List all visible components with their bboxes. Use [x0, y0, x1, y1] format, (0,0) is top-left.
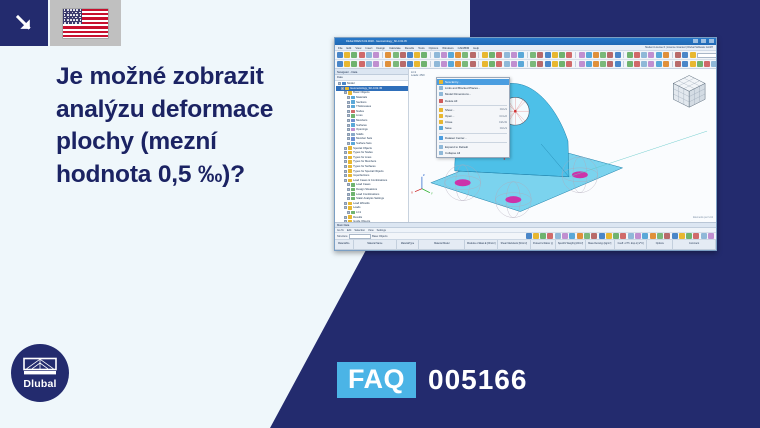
- table-column-header-line: G [N/mm²]: [516, 243, 527, 246]
- toolbar-combobox[interactable]: [697, 53, 716, 58]
- toolbar-button[interactable]: [552, 61, 558, 67]
- navigator-tree-item-label: Load Cases & Combinations: [353, 179, 387, 182]
- table-cell[interactable]: 2500.00: [585, 250, 614, 251]
- table-filter-select[interactable]: [349, 234, 371, 239]
- faq-block: FAQ 005166: [337, 362, 527, 398]
- toolbar-button[interactable]: [407, 61, 413, 67]
- table-toolbar-button[interactable]: [679, 233, 685, 239]
- toolbar-button[interactable]: [675, 52, 681, 58]
- toolbar-button[interactable]: [593, 52, 599, 58]
- table-toolbar-button[interactable]: [708, 233, 714, 239]
- table-menu-view[interactable]: View: [368, 229, 374, 232]
- toolbar-button[interactable]: [448, 52, 454, 58]
- toolbar-button[interactable]: [455, 61, 461, 67]
- navigator-tree-item-label: Guide Objects: [353, 220, 370, 222]
- navigator-tree-item-label: Static Analysis Settings: [356, 197, 384, 200]
- tree-node-icon: [348, 169, 351, 172]
- maximize-icon[interactable]: [701, 39, 706, 43]
- tree-expander-icon[interactable]: +: [347, 197, 350, 200]
- tree-expander-icon[interactable]: +: [347, 188, 350, 191]
- context-menu-item-icon: [439, 151, 443, 155]
- toolbar-separator: [575, 61, 576, 67]
- toolbar-button[interactable]: [434, 61, 440, 67]
- tree-node-icon: [348, 202, 351, 205]
- navigator-tree-item-label: Solids: [356, 133, 363, 136]
- tree-node-icon: [348, 151, 351, 154]
- toolbar-button[interactable]: [414, 52, 420, 58]
- tree-expander-icon[interactable]: +: [344, 170, 347, 173]
- toolbar-button[interactable]: [615, 52, 621, 58]
- table-column-header-line: Material Name: [367, 243, 382, 246]
- toolbar-button[interactable]: [537, 61, 543, 67]
- toolbar-button[interactable]: [600, 52, 606, 58]
- license-info: Student License 6 | License Granted | Dl…: [645, 46, 713, 49]
- navigator-tab-data[interactable]: Data: [337, 76, 343, 79]
- toolbar-button[interactable]: [656, 61, 662, 67]
- toolbar-button[interactable]: [530, 61, 536, 67]
- toolbar-button[interactable]: [711, 61, 716, 67]
- menu-windows[interactable]: Windows: [442, 46, 453, 50]
- table-column-header[interactable]: MaterialNo.: [335, 240, 354, 249]
- table-cell[interactable]: 1.0000E-05: [615, 250, 648, 251]
- table-toolbar-button[interactable]: [693, 233, 699, 239]
- toolbar-button[interactable]: [337, 61, 343, 67]
- tree-expander-icon[interactable]: +: [347, 137, 350, 140]
- table-column-header[interactable]: Mass Densityρ [kg/m³]: [586, 240, 615, 249]
- toolbar-button[interactable]: [351, 52, 357, 58]
- toolbar-button[interactable]: [615, 61, 621, 67]
- tree-node-icon: [351, 192, 354, 195]
- minimize-icon[interactable]: [693, 39, 698, 43]
- table-toolbar-button[interactable]: [664, 233, 670, 239]
- toolbar-button[interactable]: [579, 61, 585, 67]
- menu-calculate[interactable]: Calculate: [389, 46, 401, 50]
- tree-expander-icon[interactable]: +: [344, 151, 347, 154]
- table-column-header[interactable]: Specific Weightγ [kN/m³]: [556, 240, 585, 249]
- us-flag-icon: [63, 9, 108, 38]
- tree-expander-icon[interactable]: +: [344, 147, 347, 150]
- context-menu-item[interactable]: Collapse All: [437, 150, 509, 156]
- toolbar-button[interactable]: [537, 52, 543, 58]
- dlubal-logo: Dlubal: [11, 344, 69, 402]
- tree-expander-icon[interactable]: +: [344, 179, 347, 182]
- tree-expander-icon[interactable]: +: [347, 211, 350, 214]
- arrow-down-right-icon: [12, 11, 36, 35]
- toolbar-button[interactable]: [586, 52, 592, 58]
- table-column-header[interactable]: Coeff. of Th. Exp.α [1/°C]: [615, 240, 648, 249]
- toolbar-button[interactable]: [482, 61, 488, 67]
- toolbar-button[interactable]: [393, 52, 399, 58]
- tree-node-icon: [351, 128, 354, 131]
- table-toolbar-button[interactable]: [613, 233, 619, 239]
- toolbar-button[interactable]: [593, 61, 599, 67]
- toolbar-primary[interactable]: [335, 51, 716, 60]
- table-row[interactable]: 1C25/30ConcreteIsotropic | Linear Elasti…: [335, 250, 716, 251]
- menu-tools[interactable]: Tools: [418, 46, 425, 50]
- table-column-header-line: ρ [kg/m³]: [602, 243, 611, 246]
- context-menu-item-label: Delete All: [445, 99, 505, 103]
- toolbar-button[interactable]: [482, 52, 488, 58]
- table-column-header-line: ν [-]: [549, 243, 553, 246]
- tree-expander-icon[interactable]: +: [344, 220, 347, 222]
- navigator-tree-item[interactable]: +Guide Objects: [336, 219, 408, 222]
- toolbar-button[interactable]: [627, 61, 633, 67]
- table-cell[interactable]: Concrete: [397, 250, 419, 251]
- toolbar-button[interactable]: [627, 52, 633, 58]
- toolbar-separator: [672, 52, 673, 58]
- toolbar-button[interactable]: [518, 61, 524, 67]
- tree-expander-icon[interactable]: +: [344, 202, 347, 205]
- menu-file[interactable]: File: [338, 46, 343, 50]
- toolbar-button[interactable]: [511, 61, 517, 67]
- toolbar-button[interactable]: [552, 52, 558, 58]
- tree-expander-icon[interactable]: +: [338, 82, 341, 85]
- table-column-header-line: Modulus of Elast.: [467, 243, 485, 246]
- toolbar-button[interactable]: [566, 52, 572, 58]
- navigator-tree-item-label: Lines: [356, 114, 362, 117]
- context-menu-item-shortcut: Ctrl+O: [499, 115, 507, 118]
- navigator-tree-item-label: Types for Special Objects: [353, 170, 383, 173]
- toolbar-button[interactable]: [504, 61, 510, 67]
- context-menu-item-icon: [439, 108, 443, 112]
- table-cell[interactable]: 31000.0: [466, 250, 499, 251]
- dlubal-logo-text: Dlubal: [23, 378, 56, 390]
- toolbar-button[interactable]: [607, 61, 613, 67]
- toolbar-button[interactable]: [462, 52, 468, 58]
- toolbar-button[interactable]: [641, 61, 647, 67]
- tree-node-icon: [351, 188, 354, 191]
- toolbar-button[interactable]: [559, 52, 565, 58]
- context-menu-item-shortcut: Ctrl+W: [499, 121, 507, 124]
- toolbar-separator: [430, 52, 431, 58]
- tree-expander-icon[interactable]: +: [341, 87, 344, 90]
- table-toolbar-button[interactable]: [657, 233, 663, 239]
- tree-node-icon: [351, 137, 354, 140]
- toolbar-button[interactable]: [441, 52, 447, 58]
- table-toolbar-button[interactable]: [584, 233, 590, 239]
- toolbar-button[interactable]: [441, 61, 447, 67]
- toolbar-button[interactable]: [682, 61, 688, 67]
- toolbar-button[interactable]: [545, 61, 551, 67]
- table-column-header[interactable]: Comment: [673, 240, 716, 249]
- tree-expander-icon[interactable]: +: [344, 91, 347, 94]
- toolbar-button[interactable]: [470, 52, 476, 58]
- table-column-header-line: Coeff. of Th. Exp.: [618, 243, 636, 246]
- toolbar-button[interactable]: [385, 61, 391, 67]
- table-toolbar-button[interactable]: [569, 233, 575, 239]
- navigator-tree-item-label: Materials: [356, 96, 367, 99]
- context-menu[interactable]: New Entry...Links and Blocked Places...M…: [436, 77, 510, 158]
- table-toolbar-button[interactable]: [620, 233, 626, 239]
- navigator-tree-item-label: Openings: [356, 128, 368, 131]
- navigator-tree-item-label: Imperfections: [353, 174, 369, 177]
- toolbar-button[interactable]: [545, 52, 551, 58]
- tree-node-icon: [351, 114, 354, 117]
- navigator-panel[interactable]: Navigator - Data Data +Model+Geometrolog…: [335, 69, 409, 222]
- context-menu-item-label: Open...: [445, 114, 497, 118]
- tree-expander-icon[interactable]: +: [347, 96, 350, 99]
- navigator-tree-item-label: Members: [356, 119, 367, 122]
- menu-cadbim[interactable]: CAD/BIM: [458, 46, 470, 50]
- toolbar-button[interactable]: [337, 52, 343, 58]
- table-body[interactable]: 1C25/30ConcreteIsotropic | Linear Elasti…: [335, 250, 716, 251]
- toolbar-button[interactable]: [559, 61, 565, 67]
- table-grid[interactable]: MaterialNo.Material NameMaterialTypeMate…: [335, 240, 716, 251]
- menu-edit[interactable]: Edit: [347, 46, 352, 50]
- toolbar-button[interactable]: [607, 52, 613, 58]
- toolbar-button[interactable]: [704, 61, 710, 67]
- navigator-tree-item-label: Loads: [353, 206, 360, 209]
- toolbar-button[interactable]: [400, 61, 406, 67]
- navigator-tree-item-label: Sections: [356, 101, 366, 104]
- tree-node-icon: [348, 220, 351, 222]
- context-menu-item-icon: [439, 99, 443, 103]
- table-toolbar-button[interactable]: [628, 233, 634, 239]
- toolbar-button[interactable]: [373, 52, 379, 58]
- navigator-tree-item-label: Load Wizards: [353, 202, 369, 205]
- table-cell[interactable]: [673, 250, 716, 251]
- window-buttons[interactable]: [693, 39, 714, 43]
- tree-node-icon: [351, 105, 354, 108]
- table-menu-selection[interactable]: Selection: [354, 229, 365, 232]
- toolbar-button[interactable]: [648, 52, 654, 58]
- toolbar-button[interactable]: [489, 52, 495, 58]
- table-column-header[interactable]: Material Model: [419, 240, 465, 249]
- tree-node-icon: [348, 174, 351, 177]
- toolbar-button[interactable]: [496, 52, 502, 58]
- toolbar-button[interactable]: [641, 52, 647, 58]
- context-menu-item[interactable]: Delete All: [437, 98, 509, 104]
- toolbar-button[interactable]: [634, 61, 640, 67]
- tree-expander-icon[interactable]: +: [347, 114, 350, 117]
- table-column-header[interactable]: Modulus of Elast.E [N/mm²]: [465, 240, 498, 249]
- table-toolbar-icons[interactable]: [526, 233, 714, 239]
- tree-node-icon: [351, 96, 354, 99]
- toolbar-separator: [527, 61, 528, 67]
- navigator-tree-item-label: Load Combinations: [356, 193, 379, 196]
- table-cell[interactable]: 1: [335, 250, 354, 251]
- table-column-header[interactable]: Shear ModulusG [N/mm²]: [498, 240, 531, 249]
- menu-insert[interactable]: Insert: [365, 46, 372, 50]
- toolbar-button[interactable]: [648, 61, 654, 67]
- toolbar-button[interactable]: [366, 61, 372, 67]
- toolbar-button[interactable]: [675, 61, 681, 67]
- navigator-tree-item-label: LC1: [356, 211, 361, 214]
- navigator-tree-item-label: Types for Lines: [353, 156, 371, 159]
- context-menu-item-icon: [439, 120, 443, 124]
- context-menu-item-label: Expand to Default: [445, 145, 505, 149]
- model-viewport[interactable]: LC1 Loads: 25/0 Elements per Unit: [409, 69, 716, 222]
- table-toolbar-button[interactable]: [555, 233, 561, 239]
- table-column-header-line: E [N/mm²]: [485, 243, 495, 246]
- toolbar-button[interactable]: [656, 52, 662, 58]
- toolbar-button[interactable]: [434, 52, 440, 58]
- table-toolbar-button[interactable]: [526, 233, 532, 239]
- table-toolbar-button[interactable]: [540, 233, 546, 239]
- toolbar-separator: [623, 52, 624, 58]
- toolbar-button[interactable]: [455, 52, 461, 58]
- table-menu-edit[interactable]: Edit: [347, 229, 351, 232]
- toolbar-button[interactable]: [634, 52, 640, 58]
- table-header-row: MaterialNo.Material NameMaterialTypeMate…: [335, 240, 716, 250]
- tree-expander-icon[interactable]: +: [347, 133, 350, 136]
- tree-expander-icon[interactable]: +: [347, 124, 350, 127]
- toolbar-button[interactable]: [393, 61, 399, 67]
- tree-node-icon: [351, 197, 354, 200]
- tree-node-icon: [342, 82, 345, 85]
- table-cell[interactable]: C25/30: [354, 250, 397, 251]
- toolbar-button[interactable]: [697, 61, 703, 67]
- tree-expander-icon[interactable]: +: [344, 160, 347, 163]
- tree-expander-icon[interactable]: +: [347, 142, 350, 145]
- menu-options[interactable]: Options: [429, 46, 439, 50]
- tree-node-icon: [348, 156, 351, 159]
- tree-expander-icon[interactable]: +: [344, 206, 347, 209]
- table-toolbar-button[interactable]: [591, 233, 597, 239]
- toolbar-button[interactable]: [586, 61, 592, 67]
- toolbar-button[interactable]: [682, 52, 688, 58]
- tree-expander-icon[interactable]: +: [344, 156, 347, 159]
- toolbar-button[interactable]: [351, 61, 357, 67]
- table-toolbar-button[interactable]: [701, 233, 707, 239]
- table-toolbar-button[interactable]: [635, 233, 641, 239]
- toolbar-button[interactable]: [373, 61, 379, 67]
- toolbar-button[interactable]: [690, 61, 696, 67]
- tree-expander-icon[interactable]: +: [347, 128, 350, 131]
- table-column-header[interactable]: MaterialType: [397, 240, 419, 249]
- tree-node-icon: [348, 215, 351, 218]
- toolbar-button[interactable]: [530, 52, 536, 58]
- table-column-header-line: Comment: [689, 243, 699, 246]
- tree-expander-icon[interactable]: +: [347, 119, 350, 122]
- window-title: Dlubal RFEM 6.02.0018 - Geometrology_SK-…: [346, 40, 407, 43]
- table-toolbar-button[interactable]: [672, 233, 678, 239]
- toolbar-button[interactable]: [600, 61, 606, 67]
- toolbar-button[interactable]: [518, 52, 524, 58]
- toolbar-button[interactable]: [400, 52, 406, 58]
- toolbar-button[interactable]: [504, 52, 510, 58]
- table-cell[interactable]: 0.200: [531, 250, 557, 251]
- table-menu-settings[interactable]: Settings: [377, 229, 386, 232]
- table-column-header-line: γ [kN/m³]: [574, 243, 583, 246]
- context-menu-item[interactable]: Dataset Center...: [437, 135, 509, 141]
- table-column-header[interactable]: Material Name: [354, 240, 397, 249]
- guide-line: [569, 131, 707, 177]
- context-menu-item-label: Show...: [445, 108, 498, 112]
- table-toolbar-button[interactable]: [642, 233, 648, 239]
- tree-expander-icon[interactable]: +: [347, 110, 350, 113]
- navigator-tree-item-label: Design Situations: [356, 188, 377, 191]
- table-toolbar-button[interactable]: [606, 233, 612, 239]
- menu-separator: [439, 105, 507, 106]
- toolbar-button[interactable]: [414, 61, 420, 67]
- data-table-panel[interactable]: Main Data Go To Edit Selection View Sett…: [335, 222, 716, 251]
- toolbar-button[interactable]: [344, 61, 350, 67]
- table-toolbar-button[interactable]: [686, 233, 692, 239]
- toolbar-secondary[interactable]: [335, 60, 716, 69]
- table-column-header-line: Type: [409, 243, 414, 246]
- toolbar-button[interactable]: [470, 61, 476, 67]
- table-menu-goto[interactable]: Go To: [337, 229, 344, 232]
- toolbar-separator: [478, 52, 479, 58]
- table-cell[interactable]: [647, 250, 673, 251]
- toolbar-button[interactable]: [366, 52, 372, 58]
- table-toolbar-button[interactable]: [599, 233, 605, 239]
- table-cell[interactable]: 12917.0: [498, 250, 531, 251]
- toolbar-button[interactable]: [359, 61, 365, 67]
- table-column-header-line: Specific Weight: [558, 243, 574, 246]
- flag-box: [50, 0, 121, 46]
- tree-node-icon: [348, 91, 351, 94]
- toolbar-button[interactable]: [511, 52, 517, 58]
- context-menu-item-icon: [439, 145, 443, 149]
- tree-expander-icon[interactable]: +: [347, 193, 350, 196]
- menu-results[interactable]: Results: [405, 46, 414, 50]
- menu-separator: [439, 133, 507, 134]
- toolbar-button[interactable]: [462, 61, 468, 67]
- toolbar-button[interactable]: [663, 52, 669, 58]
- toolbar-button[interactable]: [421, 52, 427, 58]
- toolbar-separator: [672, 61, 673, 67]
- toolbar-button[interactable]: [690, 52, 696, 58]
- table-toolbar-button[interactable]: [577, 233, 583, 239]
- toolbar-button[interactable]: [407, 52, 413, 58]
- navigator-tree-item-label: Thicknesses: [356, 105, 371, 108]
- table-column-header[interactable]: Options: [647, 240, 673, 249]
- menu-view[interactable]: View: [355, 46, 361, 50]
- toolbar-button[interactable]: [421, 61, 427, 67]
- svg-text:Y: Y: [431, 192, 433, 196]
- table-cell[interactable]: 25.00: [556, 250, 585, 251]
- rfem-application-window[interactable]: Dlubal RFEM 6.02.0018 - Geometrology_SK-…: [334, 37, 717, 251]
- toolbar-button[interactable]: [489, 61, 495, 67]
- tree-expander-icon[interactable]: +: [347, 183, 350, 186]
- table-cell[interactable]: Isotropic | Linear Elastic: [419, 250, 466, 251]
- menu-design[interactable]: Design: [376, 46, 385, 50]
- menu-help[interactable]: Help: [473, 46, 479, 50]
- tree-expander-icon[interactable]: +: [347, 101, 350, 104]
- toolbar-button[interactable]: [566, 61, 572, 67]
- table-title: Main Data: [337, 224, 349, 227]
- tree-node-icon: [348, 146, 351, 149]
- toolbar-button[interactable]: [359, 52, 365, 58]
- toolbar-button[interactable]: [663, 61, 669, 67]
- toolbar-button[interactable]: [344, 52, 350, 58]
- table-toolbar-button[interactable]: [562, 233, 568, 239]
- toolbar-button[interactable]: [385, 52, 391, 58]
- tree-expander-icon[interactable]: +: [344, 165, 347, 168]
- navigator-tree[interactable]: +Model+Geometrology_SK-0.02.rf6+Basic Ob…: [335, 81, 408, 223]
- context-menu-item-label: Links and Blocked Places...: [445, 86, 505, 90]
- tree-expander-icon[interactable]: +: [344, 216, 347, 219]
- context-menu-item[interactable]: SaveCtrl+S: [437, 125, 509, 131]
- table-toolbar-button[interactable]: [650, 233, 656, 239]
- context-menu-item-icon: [439, 86, 443, 90]
- table-toolbar[interactable]: Structure Base Objects: [335, 233, 716, 240]
- toolbar-button[interactable]: [496, 61, 502, 67]
- table-toolbar-button[interactable]: [547, 233, 553, 239]
- tree-expander-icon[interactable]: +: [344, 174, 347, 177]
- toolbar-button[interactable]: [448, 61, 454, 67]
- table-toolbar-button[interactable]: [533, 233, 539, 239]
- toolbar-button[interactable]: [579, 52, 585, 58]
- context-menu-item-label: New Entry...: [445, 80, 505, 84]
- table-column-header[interactable]: Poisson's Ratioν [-]: [531, 240, 557, 249]
- close-icon[interactable]: [709, 39, 714, 43]
- tree-expander-icon[interactable]: +: [347, 105, 350, 108]
- toolbar-separator: [430, 61, 431, 67]
- axis-triad: X Y Z: [411, 173, 433, 196]
